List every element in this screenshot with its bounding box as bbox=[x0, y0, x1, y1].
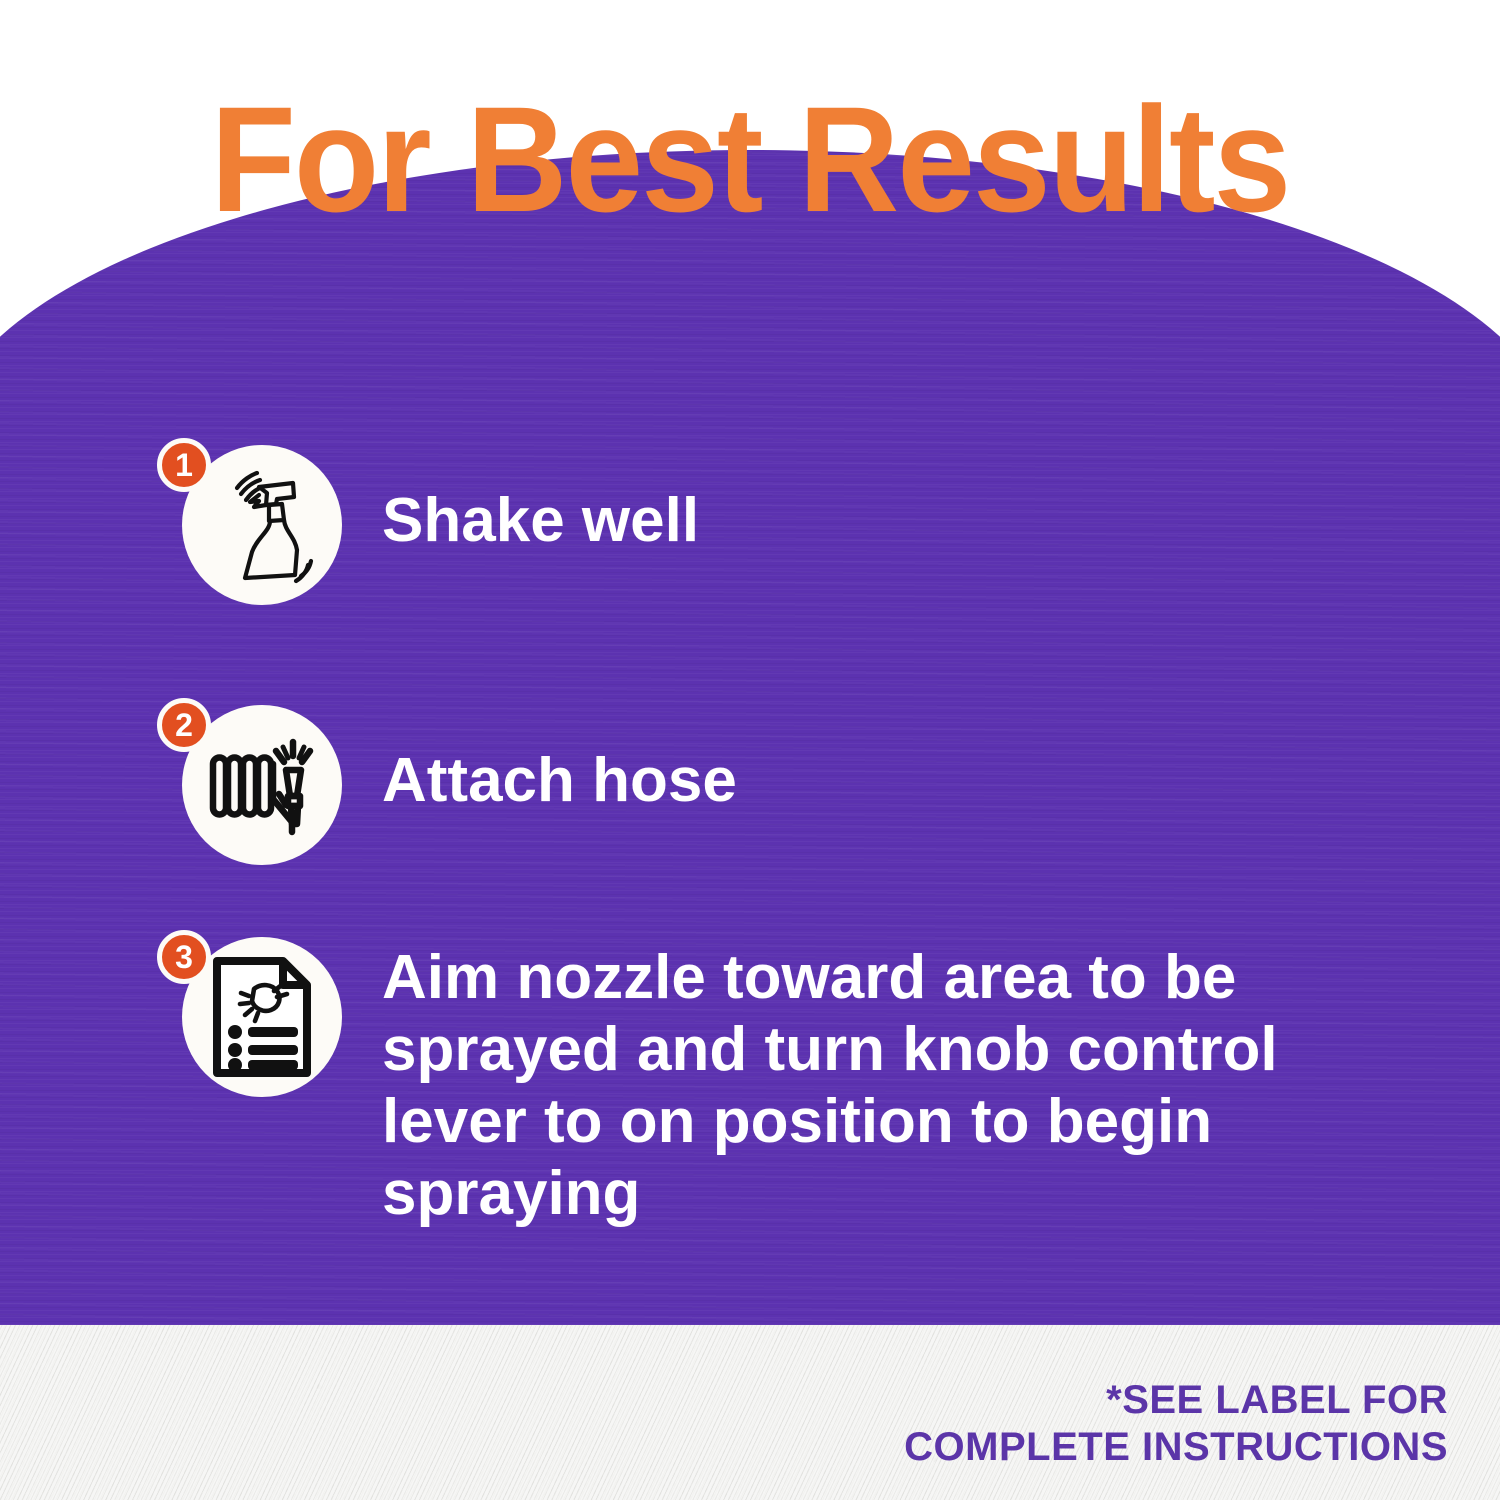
title-zone: For Best Results bbox=[0, 0, 1500, 300]
footnote-line-1: *SEE LABEL FOR bbox=[904, 1377, 1448, 1424]
footnote-line-2: COMPLETE INSTRUCTIONS bbox=[904, 1424, 1448, 1471]
step-3-label: Aim nozzle toward area to be sprayed and… bbox=[382, 942, 1282, 1230]
coiled-hose-nozzle-icon bbox=[200, 726, 324, 844]
step-2-badge: 2 bbox=[157, 698, 211, 752]
step-2-label: Attach hose bbox=[382, 746, 737, 815]
step-1-badge: 1 bbox=[157, 438, 211, 492]
footnote: *SEE LABEL FOR COMPLETE INSTRUCTIONS bbox=[904, 1377, 1448, 1471]
infographic-page: For Best Results bbox=[0, 0, 1500, 1500]
step-3-badge: 3 bbox=[157, 930, 211, 984]
label-document-icon bbox=[203, 953, 321, 1081]
bottom-strip: *SEE LABEL FOR COMPLETE INSTRUCTIONS bbox=[0, 1325, 1500, 1500]
step-1-icon-wrap: 1 bbox=[150, 438, 320, 608]
document-bullets bbox=[228, 1025, 298, 1072]
step-2-icon-wrap: 2 bbox=[150, 698, 320, 868]
page-title: For Best Results bbox=[211, 84, 1290, 234]
step-item-1: 1 Shake well bbox=[150, 438, 699, 608]
step-1-label: Shake well bbox=[382, 486, 699, 555]
spray-bottle-icon bbox=[197, 460, 327, 590]
step-item-3: 3 Aim nozzle toward area to be sprayed a… bbox=[150, 930, 1282, 1230]
document-page bbox=[217, 961, 307, 1073]
step-3-icon-wrap: 3 bbox=[150, 930, 320, 1100]
step-item-2: 2 Attach hose bbox=[150, 698, 737, 868]
